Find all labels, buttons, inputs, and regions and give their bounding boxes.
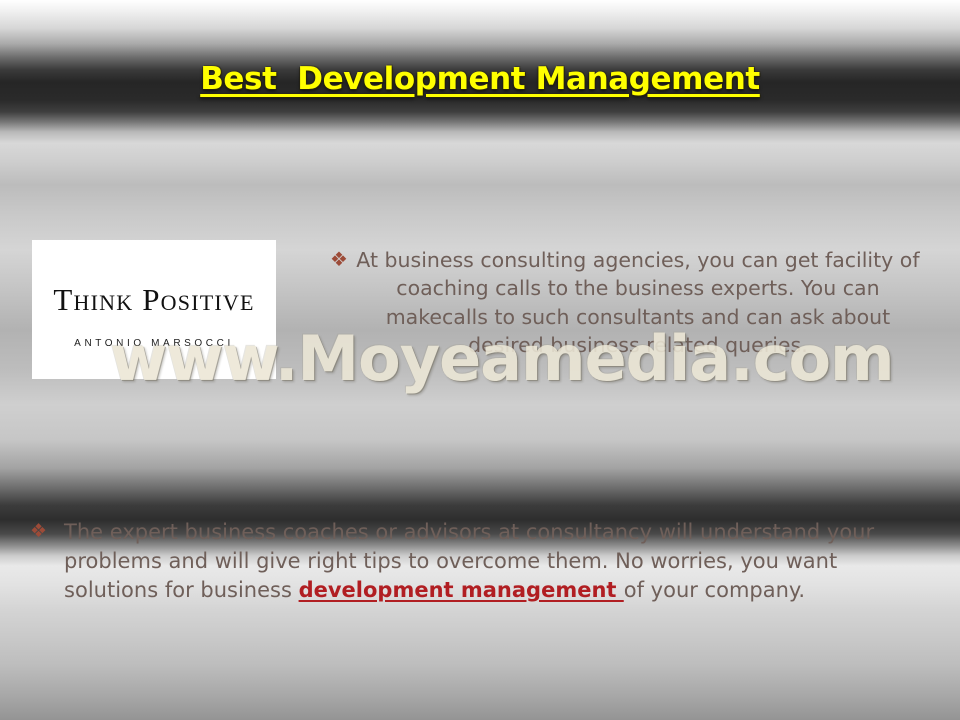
presentation-slide: Best Development Management Think Positi… bbox=[0, 0, 960, 720]
bullet-item-2: ❖ The expert business coaches or advisor… bbox=[30, 518, 930, 605]
think-positive-logo: Think Positive ANTONIO MARSOCCI bbox=[32, 240, 276, 379]
title-band: Best Development Management bbox=[0, 56, 960, 102]
diamond-bullet-icon: ❖ bbox=[30, 518, 47, 544]
development-management-link[interactable]: development management bbox=[299, 578, 624, 602]
bullet-text-2: The expert business coaches or advisors … bbox=[64, 518, 909, 605]
bullet-item-1: ❖ At business consulting agencies, you c… bbox=[330, 246, 930, 359]
diamond-bullet-icon: ❖ bbox=[330, 246, 348, 274]
logo-main-text: Think Positive bbox=[38, 282, 270, 318]
page-title: Best Development Management bbox=[200, 61, 760, 97]
bullet-text-1: At business consulting agencies, you can… bbox=[349, 246, 927, 359]
bullet-text-2-after: of your company. bbox=[624, 578, 805, 602]
logo-sub-text: ANTONIO MARSOCCI bbox=[38, 338, 270, 349]
